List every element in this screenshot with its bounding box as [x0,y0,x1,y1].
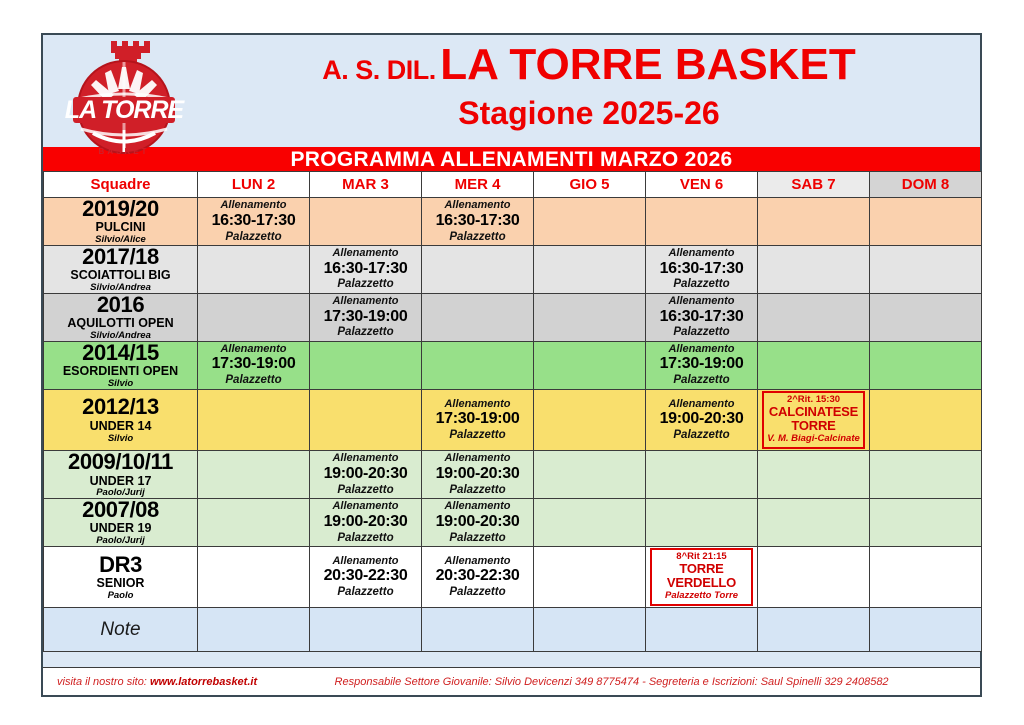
team-coach: Silvio [44,379,197,389]
session-venue: Palazzetto [646,326,757,338]
schedule-cell[interactable] [870,498,982,546]
team-cell: 2016AQUILOTTI OPENSilvio/Andrea [44,293,198,341]
session-type: Allenamento [310,556,421,568]
schedule-cell[interactable]: Allenamento19:00-20:30Palazzetto [310,451,422,499]
schedule-cell[interactable] [422,293,534,341]
team-coach: Paolo/Jurij [44,488,197,498]
session-type: Allenamento [422,501,533,513]
schedule-cell[interactable] [758,341,870,389]
schedule-cell[interactable]: 2^Rit. 15:30CALCINATESETORREV. M. Biagi-… [758,389,870,451]
note-cell[interactable] [198,608,310,652]
team-coach: Silvio [44,434,197,444]
schedule-cell[interactable] [870,293,982,341]
schedule-cell[interactable] [198,498,310,546]
schedule-cell[interactable] [870,451,982,499]
session-time: 20:30-22:30 [310,568,421,585]
schedule-cell[interactable] [870,546,982,608]
session-venue: Palazzetto [422,586,533,598]
schedule-cell[interactable] [646,198,758,246]
schedule-cell[interactable]: Allenamento19:00-20:30Palazzetto [310,498,422,546]
team-coach: Paolo/Jurij [44,536,197,546]
schedule-cell[interactable] [870,389,982,451]
schedule-cell[interactable] [646,451,758,499]
schedule-cell[interactable]: Allenamento17:30-19:00Palazzetto [198,341,310,389]
session-venue: Palazzetto [198,374,309,386]
session-venue: Palazzetto [646,374,757,386]
team-coach: Silvio/Alice [44,235,197,245]
schedule-cell[interactable] [198,245,310,293]
team-category: AQUILOTTI OPEN [44,317,197,330]
session-type: Allenamento [646,344,757,356]
match-entry[interactable]: 2^Rit. 15:30CALCINATESETORREV. M. Biagi-… [762,391,865,450]
session-time: 19:00-20:30 [310,514,421,531]
team-cell: 2007/08UNDER 19Paolo/Jurij [44,498,198,546]
schedule-cell[interactable] [198,546,310,608]
schedule-cell[interactable]: Allenamento17:30-19:00Palazzetto [422,389,534,451]
contacts-line: Responsabile Settore Giovanile: Silvio D… [257,676,966,688]
session-type: Allenamento [646,296,757,308]
match-entry[interactable]: 8^Rit 21:15TORREVERDELLOPalazzetto Torre [650,548,753,607]
svg-text:BASKET: BASKET [99,147,150,156]
schedule-cell[interactable]: Allenamento16:30-17:30Palazzetto [646,245,758,293]
schedule-cell[interactable] [534,546,646,608]
session-time: 17:30-19:00 [646,356,757,373]
team-cell: DR3SENIORPaolo [44,546,198,608]
session-venue: Palazzetto [422,231,533,243]
match-team: VERDELLO [653,576,750,590]
poster-header: LA TORRE BASKET A. S. DIL. LA TORRE BASK… [43,35,980,147]
schedule-cell[interactable] [198,293,310,341]
schedule-cell[interactable] [758,245,870,293]
table-row: 2009/10/11UNDER 17Paolo/JurijAllenamento… [44,451,982,499]
team-category: UNDER 19 [44,522,197,535]
column-header-ven: VEN 6 [646,172,758,198]
session-time: 19:00-20:30 [646,411,757,428]
session-type: Allenamento [646,399,757,411]
session-venue: Palazzetto [422,532,533,544]
team-coach: Paolo [44,591,197,601]
schedule-cell[interactable] [758,451,870,499]
session-type: Allenamento [310,501,421,513]
schedule-cell[interactable]: Allenamento19:00-20:30Palazzetto [422,451,534,499]
schedule-cell[interactable]: Allenamento16:30-17:30Palazzetto [646,293,758,341]
session-time: 19:00-20:30 [422,514,533,531]
session-type: Allenamento [310,296,421,308]
table-row: 2012/13UNDER 14SilvioAllenamento17:30-19… [44,389,982,451]
session-venue: Palazzetto [646,429,757,441]
schedule-cell[interactable] [534,293,646,341]
schedule-cell[interactable] [310,198,422,246]
team-year: 2014/15 [44,342,197,364]
schedule-cell[interactable] [534,451,646,499]
table-row: 2014/15ESORDIENTI OPENSilvioAllenamento1… [44,341,982,389]
session-type: Allenamento [198,200,309,212]
session-venue: Palazzetto [310,278,421,290]
session-type: Allenamento [310,453,421,465]
club-logo: LA TORRE BASKET [59,37,189,159]
column-header-dom: DOM 8 [870,172,982,198]
schedule-cell[interactable] [758,498,870,546]
session-venue: Palazzetto [198,231,309,243]
team-year: 2012/13 [44,396,197,418]
column-header-mer: MER 4 [422,172,534,198]
schedule-cell[interactable]: Allenamento19:00-20:30Palazzetto [422,498,534,546]
schedule-body: 2019/20PULCINISilvio/AliceAllenamento16:… [44,198,982,652]
match-team: TORRE [653,562,750,576]
team-category: PULCINI [44,221,197,234]
match-team: CALCINATESE [765,405,862,419]
team-cell: 2012/13UNDER 14Silvio [44,389,198,451]
note-cell[interactable] [646,608,758,652]
schedule-cell[interactable] [534,245,646,293]
poster-footer: visita il nostro sito: www.latorrebasket… [43,667,980,695]
schedule-cell[interactable] [534,341,646,389]
session-type: Allenamento [198,344,309,356]
team-category: SCOIATTOLI BIG [44,269,197,282]
schedule-cell[interactable] [870,245,982,293]
team-cell: 2019/20PULCINISilvio/Alice [44,198,198,246]
schedule-cell[interactable]: Allenamento20:30-22:30Palazzetto [422,546,534,608]
note-cell[interactable] [870,608,982,652]
team-category: SENIOR [44,577,197,590]
team-year: DR3 [44,554,197,576]
session-time: 20:30-22:30 [422,568,533,585]
club-title-line: A. S. DIL. LA TORRE BASKET [322,43,856,87]
website-link[interactable]: www.latorrebasket.it [150,676,257,688]
table-row: 2016AQUILOTTI OPENSilvio/AndreaAllenamen… [44,293,982,341]
table-row: 2019/20PULCINISilvio/AliceAllenamento16:… [44,198,982,246]
session-time: 16:30-17:30 [646,261,757,278]
team-year: 2016 [44,294,197,316]
schedule-cell[interactable] [758,546,870,608]
session-time: 17:30-19:00 [422,411,533,428]
team-year: 2017/18 [44,246,197,268]
schedule-cell[interactable] [646,498,758,546]
session-venue: Palazzetto [422,429,533,441]
season-label: Stagione 2025-26 [458,97,719,129]
schedule-cell[interactable]: Allenamento16:30-17:30Palazzetto [310,245,422,293]
schedule-cell[interactable] [534,498,646,546]
session-time: 16:30-17:30 [422,213,533,230]
team-cell: 2009/10/11UNDER 17Paolo/Jurij [44,451,198,499]
session-time: 16:30-17:30 [310,261,421,278]
schedule-cell[interactable]: Allenamento16:30-17:30Palazzetto [422,198,534,246]
schedule-cell[interactable] [310,341,422,389]
training-schedule-poster: LA TORRE BASKET A. S. DIL. LA TORRE BASK… [41,33,982,697]
session-type: Allenamento [422,556,533,568]
schedule-cell[interactable] [534,198,646,246]
note-cell[interactable] [310,608,422,652]
session-time: 16:30-17:30 [646,309,757,326]
session-time: 19:00-20:30 [310,466,421,483]
note-label: Note [44,608,198,652]
session-venue: Palazzetto [310,326,421,338]
table-row: 2017/18SCOIATTOLI BIGSilvio/AndreaAllena… [44,245,982,293]
schedule-cell[interactable]: 8^Rit 21:15TORREVERDELLOPalazzetto Torre [646,546,758,608]
schedule-cell[interactable] [422,245,534,293]
team-year: 2009/10/11 [44,451,197,473]
session-venue: Palazzetto [310,586,421,598]
title-block: A. S. DIL. LA TORRE BASKET Stagione 2025… [198,35,980,147]
team-category: UNDER 17 [44,475,197,488]
column-header-lun: LUN 2 [198,172,310,198]
svg-text:LA TORRE: LA TORRE [65,96,186,124]
session-type: Allenamento [310,248,421,260]
schedule-cell[interactable]: Allenamento19:00-20:30Palazzetto [646,389,758,451]
schedule-cell[interactable] [310,389,422,451]
schedule-cell[interactable] [422,341,534,389]
match-venue: V. M. Biagi-Calcinate [765,434,862,444]
schedule-cell[interactable] [198,451,310,499]
schedule-cell[interactable]: Allenamento20:30-22:30Palazzetto [310,546,422,608]
column-header-mar: MAR 3 [310,172,422,198]
layout-spacer [43,652,980,667]
table-header-row: Squadre LUN 2 MAR 3 MER 4 GIO 5 VEN 6 SA… [44,172,982,198]
session-type: Allenamento [646,248,757,260]
table-row: DR3SENIORPaoloAllenamento20:30-22:30Pala… [44,546,982,608]
session-type: Allenamento [422,453,533,465]
team-year: 2019/20 [44,198,197,220]
session-time: 16:30-17:30 [198,213,309,230]
schedule-table: Squadre LUN 2 MAR 3 MER 4 GIO 5 VEN 6 SA… [43,171,982,652]
note-cell[interactable] [534,608,646,652]
schedule-cell[interactable] [758,198,870,246]
schedule-cell[interactable] [870,198,982,246]
note-cell[interactable] [758,608,870,652]
session-venue: Palazzetto [310,484,421,496]
session-venue: Palazzetto [646,278,757,290]
session-time: 17:30-19:00 [310,309,421,326]
schedule-cell[interactable]: Allenamento16:30-17:30Palazzetto [198,198,310,246]
team-coach: Silvio/Andrea [44,331,197,341]
column-header-gio: GIO 5 [534,172,646,198]
session-time: 19:00-20:30 [422,466,533,483]
club-prefix: A. S. DIL. [322,55,436,85]
table-row: 2007/08UNDER 19Paolo/JurijAllenamento19:… [44,498,982,546]
session-time: 17:30-19:00 [198,356,309,373]
team-coach: Silvio/Andrea [44,283,197,293]
club-name: LA TORRE BASKET [440,40,856,89]
team-category: UNDER 14 [44,420,197,433]
team-category: ESORDIENTI OPEN [44,365,197,378]
schedule-cell[interactable] [758,293,870,341]
note-row: Note [44,608,982,652]
schedule-cell[interactable]: Allenamento17:30-19:00Palazzetto [310,293,422,341]
schedule-cell[interactable] [534,389,646,451]
column-header-sab: SAB 7 [758,172,870,198]
session-type: Allenamento [422,399,533,411]
schedule-cell[interactable] [870,341,982,389]
website-prefix: visita il nostro sito: [57,676,147,688]
team-year: 2007/08 [44,499,197,521]
match-venue: Palazzetto Torre [653,591,750,601]
schedule-cell[interactable] [198,389,310,451]
column-header-squadre: Squadre [44,172,198,198]
team-cell: 2017/18SCOIATTOLI BIGSilvio/Andrea [44,245,198,293]
website-line: visita il nostro sito: www.latorrebasket… [57,676,257,688]
session-venue: Palazzetto [422,484,533,496]
schedule-cell[interactable]: Allenamento17:30-19:00Palazzetto [646,341,758,389]
session-type: Allenamento [422,200,533,212]
team-cell: 2014/15ESORDIENTI OPENSilvio [44,341,198,389]
note-cell[interactable] [422,608,534,652]
session-venue: Palazzetto [310,532,421,544]
match-team: TORRE [765,419,862,433]
